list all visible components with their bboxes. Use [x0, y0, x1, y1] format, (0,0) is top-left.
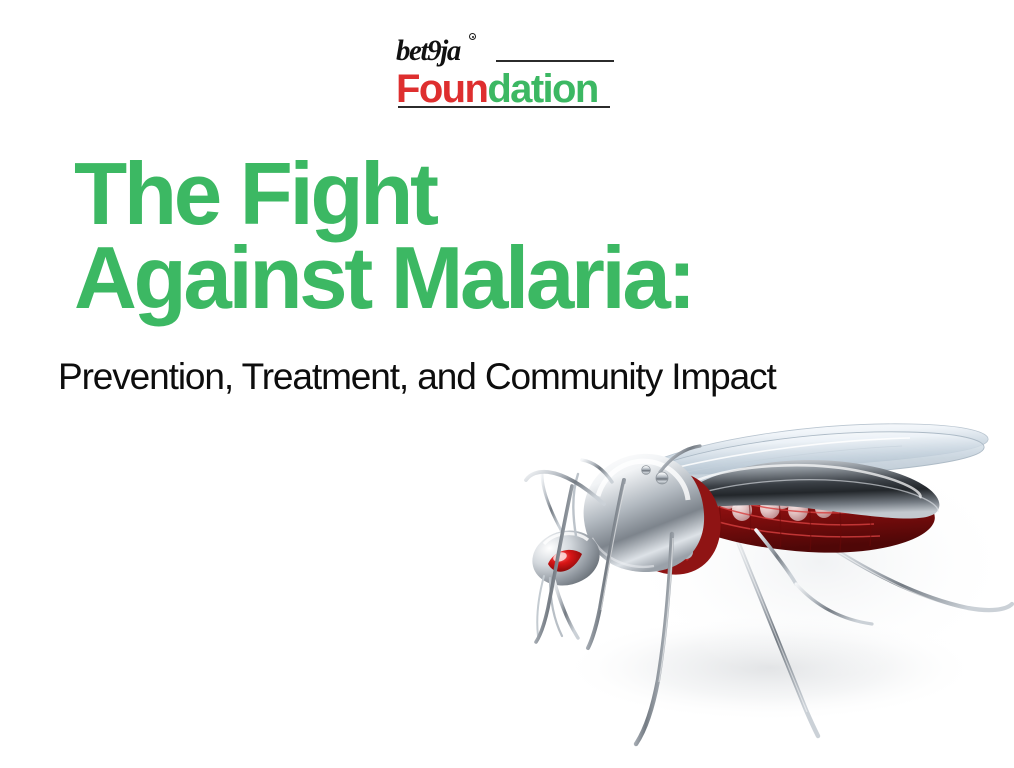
logo-top-divider	[496, 60, 614, 62]
page-subtitle: Prevention, Treatment, and Community Imp…	[58, 356, 776, 398]
page-title-line-2: Against Malaria:	[74, 236, 856, 320]
wing-hinge-1	[656, 472, 668, 484]
soccer-ball-dot-icon	[469, 33, 476, 40]
mosquito-antenna-upper	[542, 474, 562, 532]
foundation-wordmark: Foundation	[396, 68, 614, 110]
page-title-line-1: The Fight	[74, 152, 856, 236]
wing-hinge-2	[642, 466, 651, 475]
logo-bottom-divider	[398, 106, 610, 108]
page-title: The Fight Against Malaria:	[74, 152, 864, 320]
bet9ja-foundation-logo: bet9ja Foundation	[396, 36, 614, 108]
chrome-mosquito-illustration	[520, 412, 1014, 768]
foundation-label-green: dation	[487, 67, 597, 111]
bet9ja-wordmark: bet9ja	[396, 36, 460, 66]
mosquito-proboscis	[554, 580, 578, 638]
foundation-label-red: Foun	[396, 67, 487, 111]
logo-top-row: bet9ja	[396, 36, 614, 66]
slide-canvas: bet9ja Foundation The Fight Against Mala…	[0, 0, 1014, 768]
